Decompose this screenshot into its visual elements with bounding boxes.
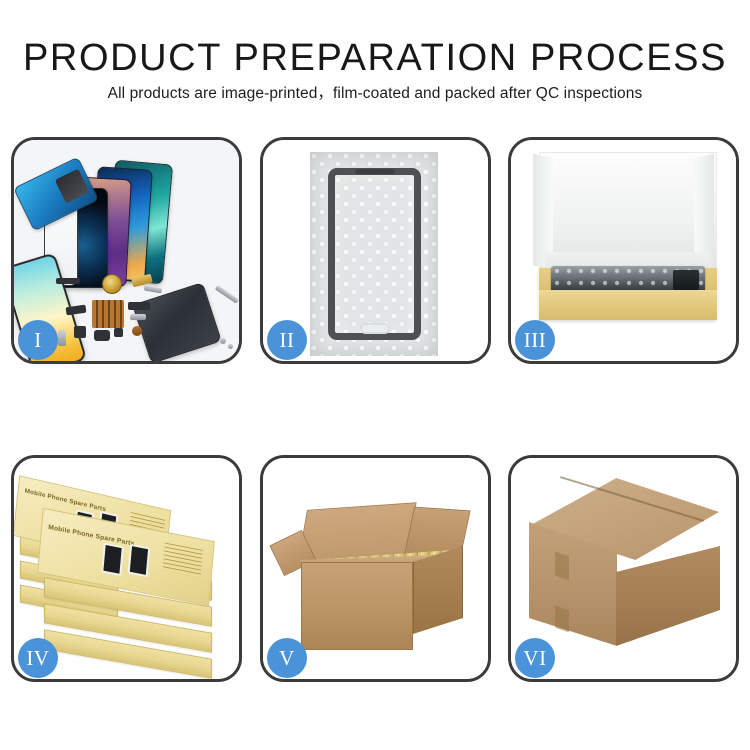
carton-tape-left-icon [555,552,569,581]
process-step-3: III [508,137,739,364]
page-subtitle: All products are image-printed，film-coat… [0,84,750,104]
step-3-panel: III [508,137,739,364]
step-3-badge: III [515,320,555,360]
sealed-carton-right-icon [616,546,720,646]
part-bar-icon [56,278,80,284]
box-artwork-screen-icon [128,544,151,577]
part-screws-2-icon [228,344,233,349]
process-step-6: VI [508,455,739,682]
step-5-panel: V [260,455,491,682]
step-4-panel: Mobile Phone Spare Parts Mobile Phone Sp… [11,455,242,682]
bubble-wrap-sheet-icon [310,152,438,356]
step-4-badge: IV [18,638,58,678]
step-1-badge: I [18,320,58,360]
part-camera-module-icon [74,326,86,338]
process-step-4: Mobile Phone Spare Parts Mobile Phone Sp… [11,455,242,682]
header: PRODUCT PREPARATION PROCESS All products… [0,0,750,122]
part-screws-icon [220,338,226,344]
step-6-badge: VI [515,638,555,678]
box-artwork-screen-icon [101,543,124,576]
process-steps-grid: I II [11,137,739,682]
step-1-panel: I [11,137,242,364]
step-5-badge: V [267,638,307,678]
box-label-text: Mobile Phone Spare Parts [48,524,135,548]
part-button-icon [114,328,123,337]
home-button-icon [360,323,390,334]
step-2-badge: II [267,320,307,360]
process-step-5: V [260,455,491,682]
page-title: PRODUCT PREPARATION PROCESS [0,36,750,80]
chip-array-icon [92,300,124,328]
process-step-1: I [11,137,242,364]
part-sim-tray-icon [58,330,66,346]
part-connector-icon [128,302,150,310]
kraft-box-front-icon [539,290,717,320]
part-speaker-icon [94,330,110,341]
wireless-charging-coil-icon [102,274,122,294]
step-6-panel: VI [508,455,739,682]
carton-tape-bottom-icon [555,606,569,633]
box-artwork-text-block [162,543,202,578]
wrapped-phone-screen-icon [328,168,421,340]
process-step-2: II [260,137,491,364]
product-preparation-process-infographic: PRODUCT PREPARATION PROCESS All products… [0,0,750,750]
carton-front-icon [301,562,413,650]
step-2-panel: II [260,137,491,364]
box-label-text: Mobile Phone Spare Parts [24,488,106,514]
part-vibrator-icon [132,326,142,336]
part-bracket-icon [130,314,146,320]
